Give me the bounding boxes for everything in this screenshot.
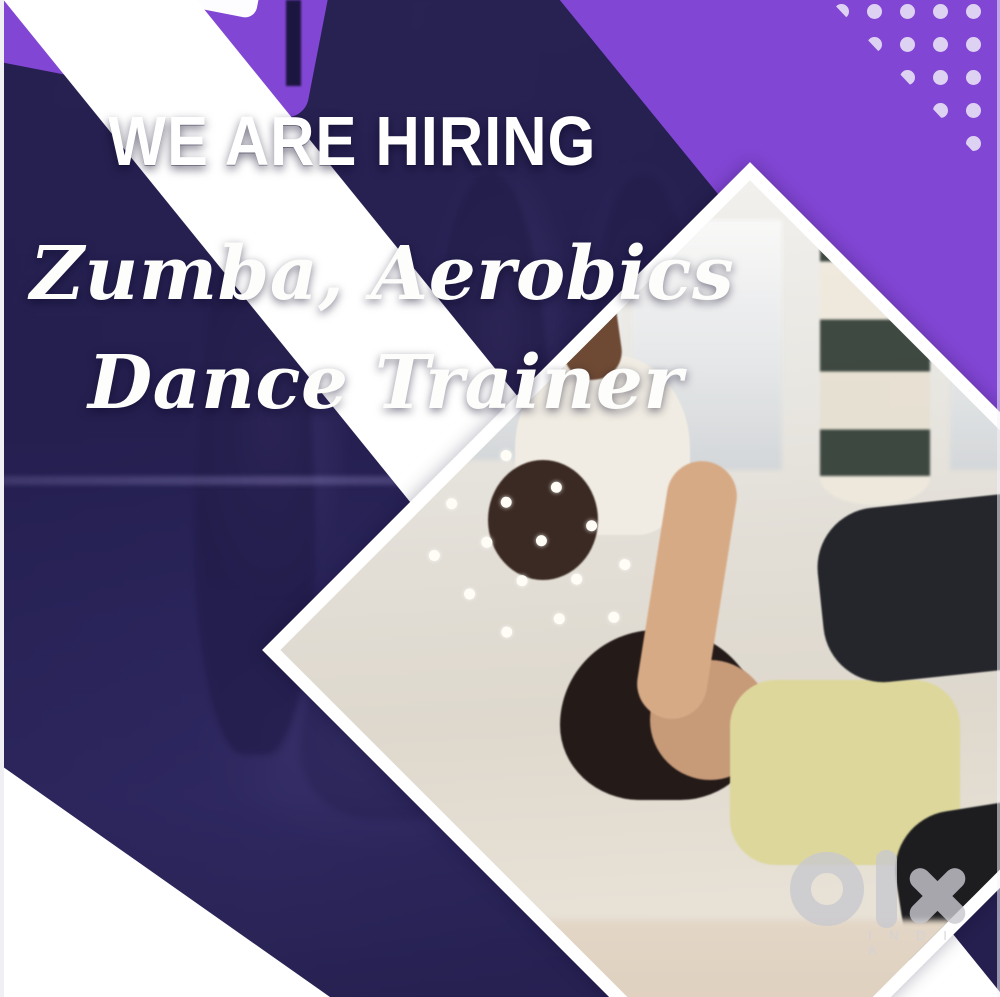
job-roles-line-1: Zumba, Aerobics <box>30 231 734 317</box>
photo-accent-dot <box>585 519 598 532</box>
halftone-dot <box>966 70 981 85</box>
photo-accent-dot <box>553 612 566 625</box>
left-edge-border <box>0 0 4 997</box>
page-title: WE ARE HIRING <box>108 106 596 176</box>
studio-post <box>286 0 301 86</box>
photo-accent-dot <box>445 497 458 510</box>
photo-accent-dot <box>516 574 529 587</box>
hiring-poster: WE ARE HIRING Zumba, Aerobics Dance Trai… <box>0 0 1000 997</box>
halftone-dot <box>933 4 948 19</box>
halftone-dot <box>966 103 981 118</box>
photo-accent-dot <box>480 536 493 549</box>
halftone-dot <box>867 4 882 19</box>
photo-accent-dot <box>618 558 631 571</box>
photo-accent-dot <box>428 549 441 562</box>
halftone-dot <box>933 70 948 85</box>
photo-accent-dot <box>535 534 548 547</box>
photo-accent-dot <box>550 481 563 494</box>
halftone-dot <box>900 37 915 52</box>
photo-accent-dot <box>607 611 620 624</box>
halftone-dot <box>966 37 981 52</box>
photo-accent-dot <box>500 626 513 639</box>
photo-accent-dot <box>500 496 513 509</box>
job-roles-line-2: Dance Trainer <box>88 340 683 426</box>
photo-accent-dot <box>500 449 513 462</box>
halftone-dot <box>966 4 981 19</box>
halftone-dot <box>933 37 948 52</box>
halftone-dot <box>900 4 915 19</box>
photo-accent-dot <box>570 573 583 586</box>
photo-accent-dot <box>463 588 476 601</box>
